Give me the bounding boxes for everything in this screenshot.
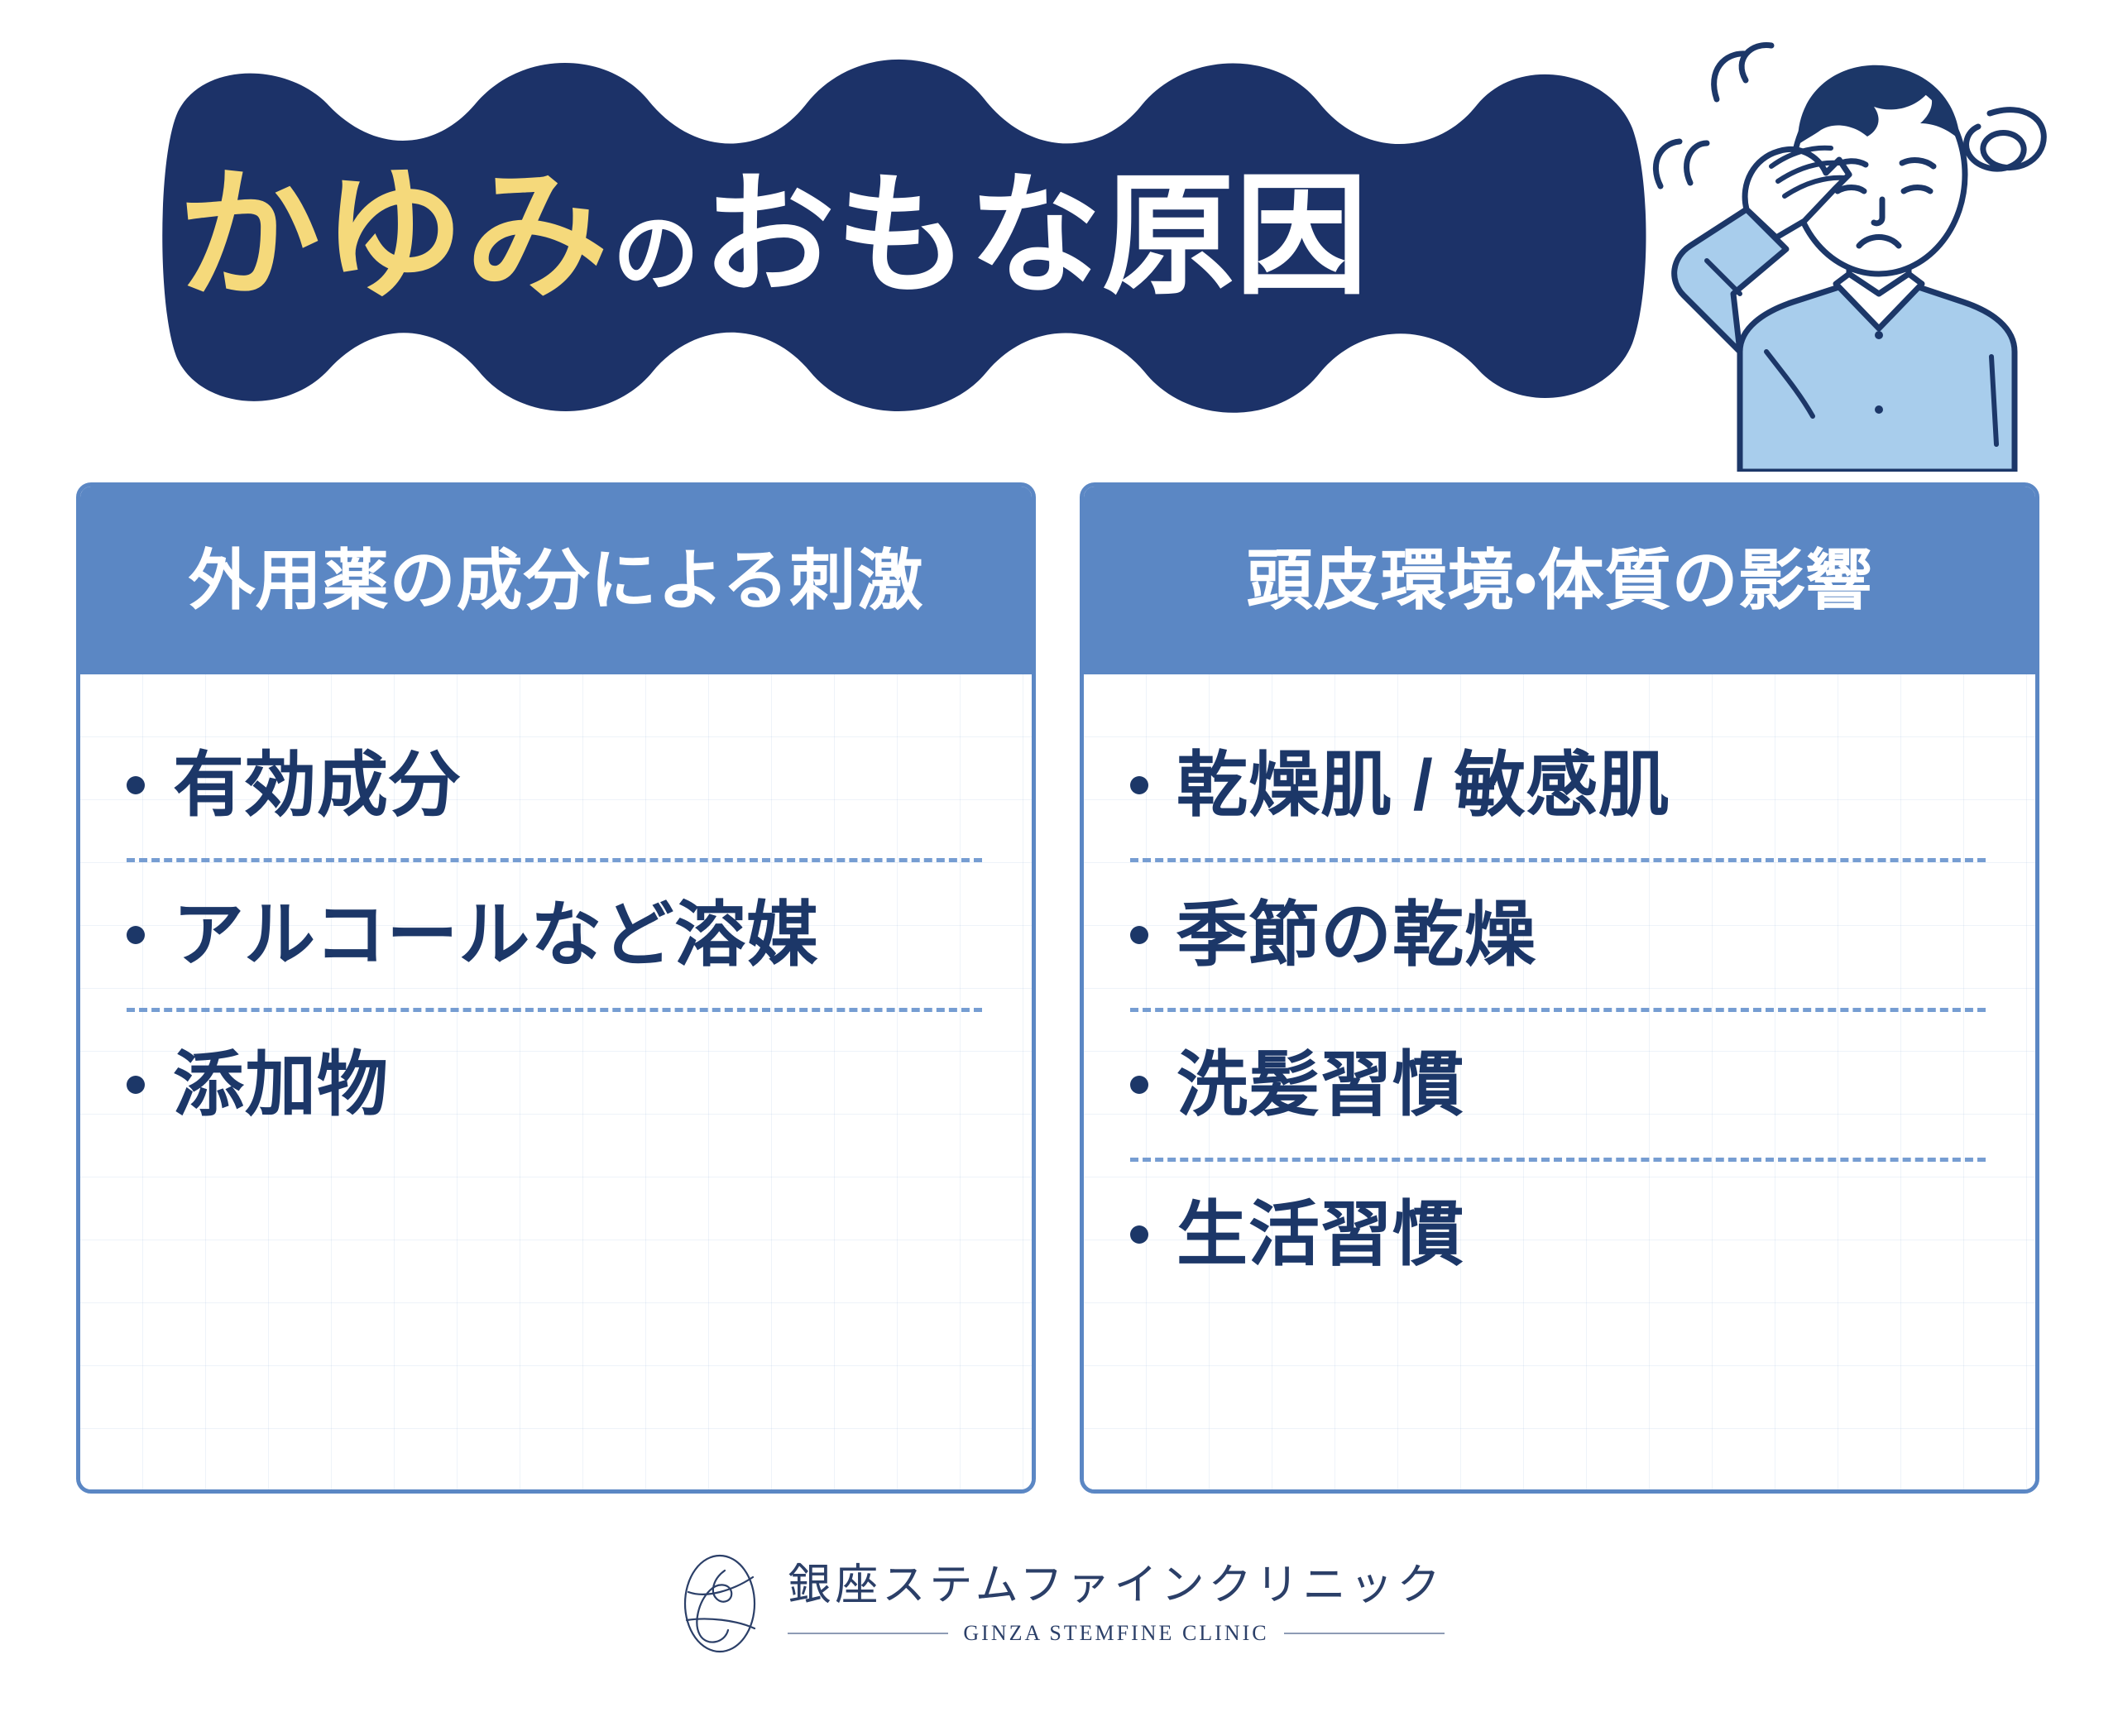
list-item: 有効成分 (127, 717, 985, 853)
bullet-dot-icon (127, 776, 145, 794)
list-item-label: 生活習慣 (1176, 1196, 1464, 1274)
card-body-right: 乾燥肌 / 敏感肌 季節の乾燥 洗髪習慣 生活習慣 (1084, 674, 2035, 1489)
logo-rule-left (788, 1633, 948, 1634)
list-item-label: 季節の乾燥 (1176, 896, 1536, 975)
bullet-dot-icon (1130, 1076, 1148, 1094)
bullet-dot-icon (1130, 1225, 1148, 1244)
list-item: 季節の乾燥 (1130, 867, 1989, 1003)
list-item-label: 有効成分 (173, 746, 461, 825)
card-scalp-environment-constitution: 頭皮環境・体質の影響 乾燥肌 / 敏感肌 季節の乾燥 洗髪習慣 生活習慣 (1080, 482, 2039, 1494)
list-item-label: 洗髪習慣 (1176, 1046, 1464, 1125)
list-item: 添加物 (127, 1017, 985, 1153)
bullet-dot-icon (1130, 776, 1148, 794)
list-item-label: アルコールなど溶媒 (173, 896, 818, 975)
list-divider (1130, 858, 1986, 862)
card-header-left: 外用薬の成分による刺激 (80, 487, 1032, 674)
card-external-medicine-irritation: 外用薬の成分による刺激 有効成分 アルコールなど溶媒 添加物 (76, 482, 1036, 1494)
card-body-left: 有効成分 アルコールなど溶媒 添加物 (80, 674, 1032, 1489)
clinic-name-en: GINZA STEMFINE CLINIC (948, 1621, 1283, 1646)
logo-rule-right (1284, 1633, 1445, 1634)
clinic-name-jp: 銀座ステムファインクリニック (788, 1561, 1444, 1611)
bullet-dot-icon (1130, 926, 1148, 944)
banner-title: かゆみ の おもな原因 (79, 46, 1651, 426)
list-divider (1130, 1008, 1986, 1012)
card-header-label-right: 頭皮環境・体質の影響 (1246, 548, 1872, 614)
title-banner: かゆみ の おもな原因 (79, 46, 1651, 426)
monogram-oval-icon (673, 1549, 766, 1658)
bullet-dot-icon (127, 1076, 145, 1094)
list-divider (127, 1008, 982, 1012)
banner-title-rest: おもな原因 (702, 170, 1368, 302)
footer-logo: 銀座ステムファインクリニック GINZA STEMFINE CLINIC (0, 1549, 2118, 1658)
card-header-label-left: 外用薬の成分による刺激 (189, 548, 924, 614)
banner-title-particle: の (613, 211, 699, 297)
clinic-name-en-row: GINZA STEMFINE CLINIC (788, 1621, 1444, 1646)
card-header-right: 頭皮環境・体質の影響 (1084, 487, 2035, 674)
man-scratching-head-icon (1601, 21, 2097, 472)
list-divider (1130, 1158, 1986, 1162)
list-divider (127, 858, 982, 862)
man-scratching-head-illustration (1601, 21, 2097, 472)
list-item: 生活習慣 (1130, 1167, 1989, 1302)
list-item: 洗髪習慣 (1130, 1017, 1989, 1153)
list-item: アルコールなど溶媒 (127, 867, 985, 1003)
banner-title-accent: かゆみ (178, 165, 610, 307)
bullet-dot-icon (127, 926, 145, 944)
list-item: 乾燥肌 / 敏感肌 (1130, 717, 1989, 853)
list-item-label: 添加物 (173, 1046, 389, 1125)
list-item-label: 乾燥肌 / 敏感肌 (1176, 746, 1670, 825)
